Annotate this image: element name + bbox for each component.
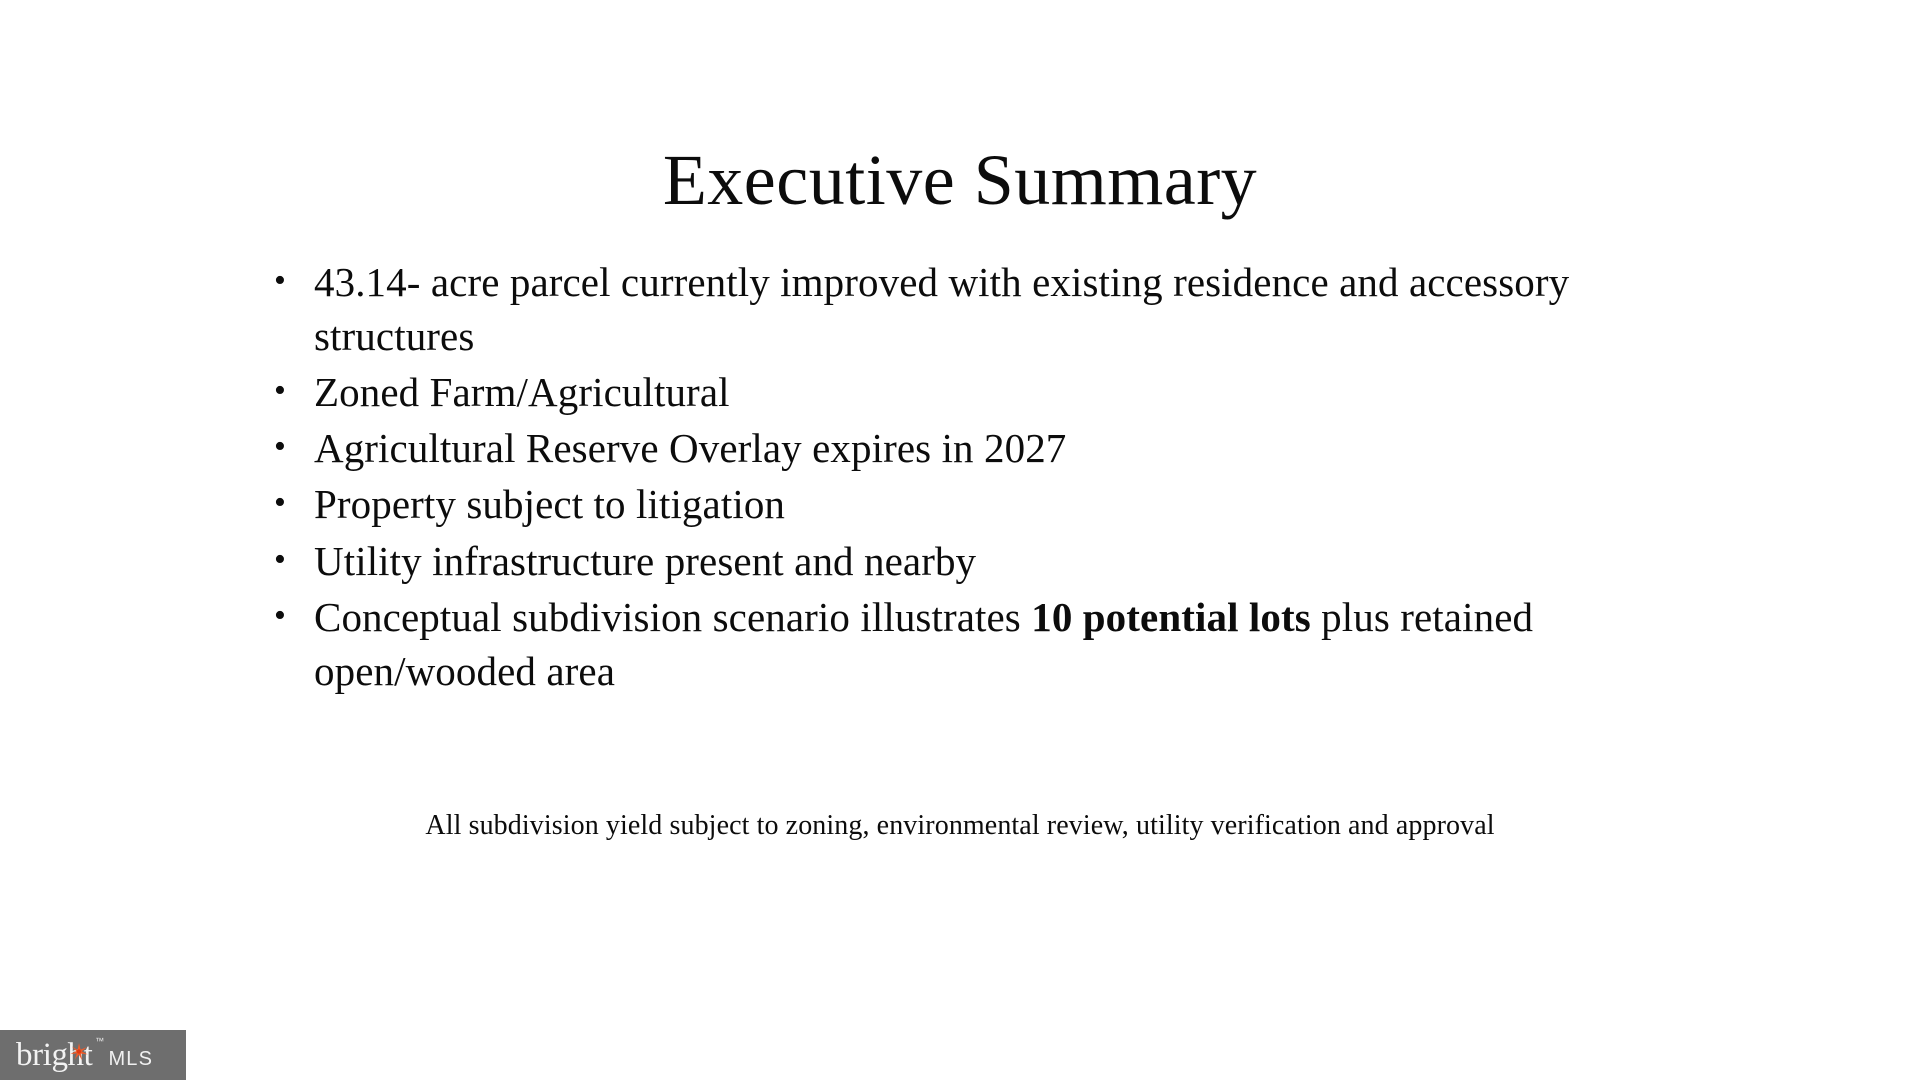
list-item: Conceptual subdivision scenario illustra… [268, 590, 1708, 698]
logo-suffix: MLS [108, 1049, 153, 1069]
bright-mls-logo: bright ™ MLS [0, 1030, 186, 1080]
list-item: Agricultural Reserve Overlay expires in … [268, 421, 1708, 475]
logo-wordmark-text: bright [16, 1037, 92, 1073]
disclaimer-footnote: All subdivision yield subject to zoning,… [0, 808, 1920, 844]
list-item: Property subject to litigation [268, 477, 1708, 531]
bullet-text-pre: Utility infrastructure present and nearb… [314, 538, 976, 584]
list-item: Utility infrastructure present and nearb… [268, 534, 1708, 588]
executive-summary-bullet-list: 43.14- acre parcel currently improved wi… [268, 255, 1708, 700]
bullet-text-pre: Property subject to litigation [314, 481, 785, 527]
bullet-text-pre: Agricultural Reserve Overlay expires in … [314, 425, 1066, 471]
bullet-text-pre: 43.14- acre parcel currently improved wi… [314, 259, 1569, 359]
list-item: Zoned Farm/Agricultural [268, 365, 1708, 419]
trademark-icon: ™ [95, 1037, 104, 1046]
page-title: Executive Summary [0, 144, 1920, 216]
logo-inner: bright ™ MLS [16, 1039, 153, 1072]
bullet-text-pre: Conceptual subdivision scenario illustra… [314, 594, 1031, 640]
list-item: 43.14- acre parcel currently improved wi… [268, 255, 1708, 363]
bullet-text-pre: Zoned Farm/Agricultural [314, 369, 730, 415]
logo-wordmark: bright ™ [16, 1039, 92, 1072]
slide-canvas: Executive Summary 43.14- acre parcel cur… [0, 0, 1920, 1080]
bullet-text-bold: 10 potential lots [1031, 594, 1311, 640]
